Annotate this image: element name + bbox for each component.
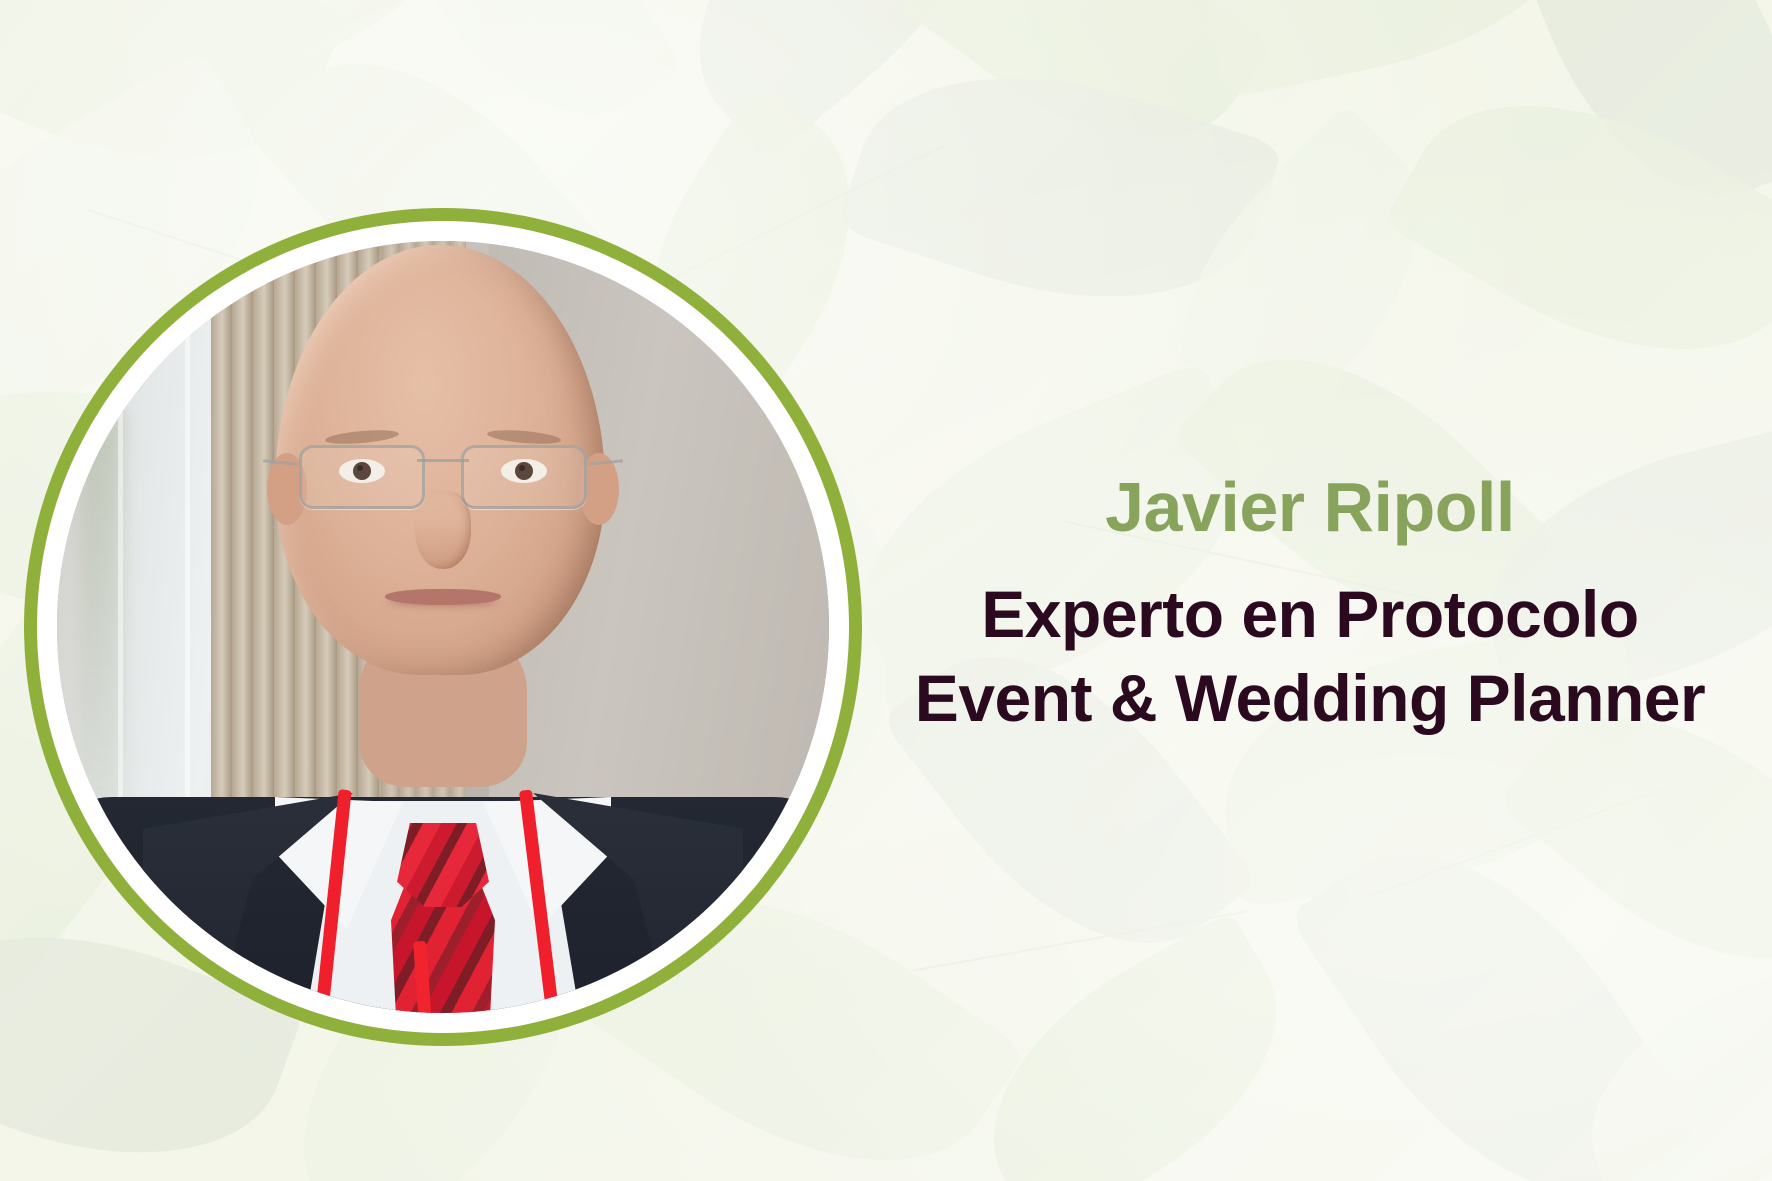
- photo-nose: [415, 491, 471, 569]
- photo-person: [57, 241, 829, 1013]
- person-name: Javier Ripoll: [880, 470, 1740, 546]
- portrait-inner-ring: [37, 221, 849, 1033]
- person-role-1: Experto en Protocolo: [880, 572, 1740, 656]
- photo-mouth: [385, 589, 501, 605]
- portrait-outer-ring: [24, 208, 862, 1046]
- person-role-2: Event & Wedding Planner: [880, 656, 1740, 740]
- avatar: [57, 241, 829, 1013]
- identity-text-block: Javier Ripoll Experto en Protocolo Event…: [880, 470, 1740, 741]
- portrait-photo: [57, 241, 829, 1013]
- profile-card: Javier Ripoll Experto en Protocolo Event…: [0, 0, 1772, 1181]
